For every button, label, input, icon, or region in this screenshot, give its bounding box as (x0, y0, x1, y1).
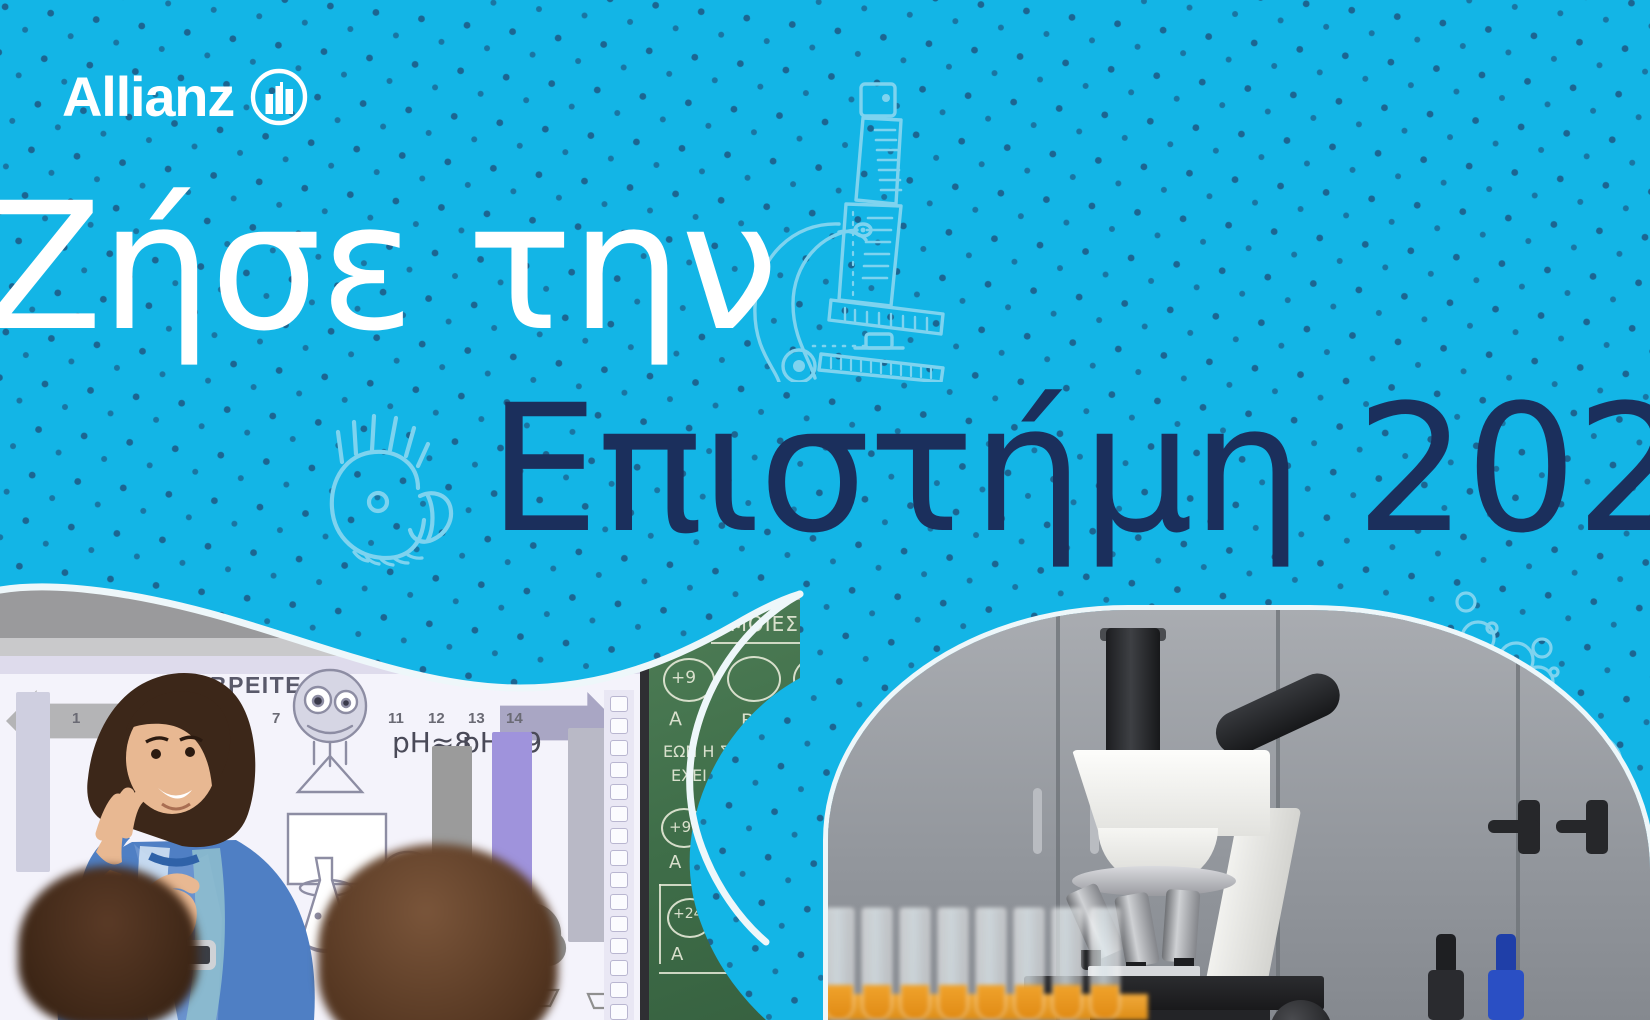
allianz-logo[interactable]: Allianz (62, 68, 308, 126)
whiteboard-toolbar[interactable] (604, 690, 634, 1020)
campaign-banner: 0 1 2 6 7 11 12 13 14 ΒΡΕΙΤΕ pH≈8 pH≈9 p… (0, 0, 1650, 1020)
classroom-photo: 0 1 2 6 7 11 12 13 14 ΒΡΕΙΤΕ pH≈8 pH≈9 p… (0, 560, 900, 1020)
laboratory-photo (828, 610, 1650, 1020)
chalkboard-heading: ΟΜΟΙΕΣ (713, 612, 799, 636)
chalkboard: 9 ΟΜΟΙΕΣ +9 Α Β Γ ΕΩΝ Η ΣΦΑΙΡΑ ΕΧΕΙ ΦΟΡΤ… (640, 600, 860, 1020)
dropper-bottle-black (1428, 934, 1464, 1020)
allianz-wordmark: Allianz (62, 69, 234, 125)
student-head (18, 866, 198, 1020)
photo-collage: 0 1 2 6 7 11 12 13 14 ΒΡΕΙΤΕ pH≈8 pH≈9 p… (0, 0, 1650, 1020)
allianz-bars-icon (250, 68, 308, 126)
dropper-bottle-blue (1488, 934, 1524, 1020)
